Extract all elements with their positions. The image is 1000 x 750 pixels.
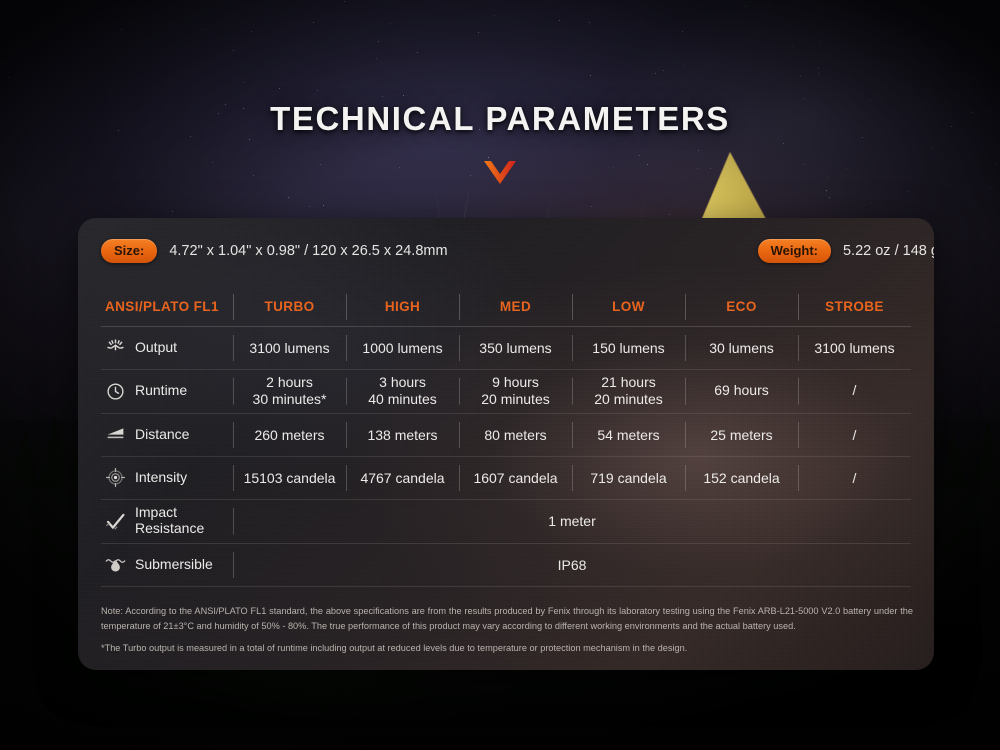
column-header-eco: ECO [685, 288, 798, 326]
column-header-strobe: STROBE [798, 288, 911, 326]
value-cell: / [798, 413, 911, 456]
value-cell: 21 hours20 minutes [572, 369, 685, 413]
chevron-down-icon [483, 160, 517, 186]
row-label-text: ImpactResistance [135, 505, 204, 536]
impact-check-icon [105, 511, 126, 532]
row-label-cell: ImpactResistance [101, 499, 233, 543]
value-line2: 20 minutes [594, 391, 662, 407]
value-cell: 150 lumens [572, 326, 685, 369]
row-label-text: Distance [135, 427, 189, 443]
value-cell: 152 candela [685, 456, 798, 499]
table-row: SubmersibleIP68 [101, 543, 911, 586]
row-label-cell: Output [101, 326, 233, 369]
row-label-line2: Resistance [135, 520, 204, 536]
row-label-text: Intensity [135, 470, 187, 486]
table-row: Output3100 lumens1000 lumens350 lumens15… [101, 326, 911, 369]
table-header-row: ANSI/PLATO FL1 TURBO HIGH MED LOW ECO ST… [101, 288, 911, 326]
value-cell: 25 meters [685, 413, 798, 456]
spec-summary-row: Size: 4.72" x 1.04" x 0.98" / 120 x 26.5… [78, 218, 934, 284]
row-label-cell: Runtime [101, 369, 233, 413]
value-cell: 3100 lumens [233, 326, 346, 369]
column-header-standard: ANSI/PLATO FL1 [101, 288, 233, 326]
value-cell: 2 hours30 minutes* [233, 369, 346, 413]
value-cell: 69 hours [685, 369, 798, 413]
value-line1: 3 hours [379, 374, 426, 390]
table-row: ImpactResistance1 meter [101, 499, 911, 543]
table-row: Distance260 meters138 meters80 meters54 … [101, 413, 911, 456]
value-line1: 9 hours [492, 374, 539, 390]
water-drop-icon [105, 554, 126, 575]
row-label-text: Runtime [135, 383, 187, 399]
value-cell: 9 hours20 minutes [459, 369, 572, 413]
table-body: Output3100 lumens1000 lumens350 lumens15… [101, 326, 911, 586]
footnote-turbo-asterisk: *The Turbo output is measured in a total… [101, 641, 913, 656]
value-cell: 30 lumens [685, 326, 798, 369]
row-label-text: Output [135, 340, 177, 356]
value-cell: 719 candela [572, 456, 685, 499]
value-cell: 4767 candela [346, 456, 459, 499]
weight-spec: Weight: 5.22 oz / 148 g (including batte… [758, 239, 934, 263]
value-cell: 54 meters [572, 413, 685, 456]
value-cell: 260 meters [233, 413, 346, 456]
value-line1: 21 hours [601, 374, 655, 390]
row-label-cell: Intensity [101, 456, 233, 499]
merged-value-cell: 1 meter [233, 499, 911, 543]
technical-parameters-table: ANSI/PLATO FL1 TURBO HIGH MED LOW ECO ST… [101, 288, 911, 587]
footnote-ansi-standard: Note: According to the ANSI/PLATO FL1 st… [101, 604, 913, 633]
row-label-cell: Distance [101, 413, 233, 456]
target-intensity-icon [105, 467, 126, 488]
value-line2: 30 minutes* [253, 391, 327, 407]
column-header-high: HIGH [346, 288, 459, 326]
column-header-low: LOW [572, 288, 685, 326]
table-row: Intensity15103 candela4767 candela1607 c… [101, 456, 911, 499]
value-cell: 350 lumens [459, 326, 572, 369]
light-burst-icon [105, 337, 126, 358]
footnotes: Note: According to the ANSI/PLATO FL1 st… [101, 604, 913, 656]
value-line2: 40 minutes [368, 391, 436, 407]
merged-value-cell: IP68 [233, 543, 911, 586]
value-cell: 1000 lumens [346, 326, 459, 369]
value-cell: 80 meters [459, 413, 572, 456]
value-cell: 1607 candela [459, 456, 572, 499]
row-label-line1: Impact [135, 504, 177, 520]
size-spec: Size: 4.72" x 1.04" x 0.98" / 120 x 26.5… [101, 239, 448, 263]
value-line2: 20 minutes [481, 391, 549, 407]
beam-distance-icon [105, 424, 126, 445]
clock-icon [105, 381, 126, 402]
table-header: ANSI/PLATO FL1 TURBO HIGH MED LOW ECO ST… [101, 288, 911, 326]
weight-value: 5.22 oz / 148 g (including battery). [843, 243, 934, 259]
size-value: 4.72" x 1.04" x 0.98" / 120 x 26.5 x 24.… [169, 243, 447, 259]
value-line1: 69 hours [714, 382, 768, 398]
value-cell: 3100 lumens [798, 326, 911, 369]
value-cell: / [798, 456, 911, 499]
page-root: TECHNICAL PARAMETERS Size: 4.72" x 1.04"… [0, 0, 1000, 750]
spec-panel: Size: 4.72" x 1.04" x 0.98" / 120 x 26.5… [78, 218, 934, 670]
page-title: TECHNICAL PARAMETERS [0, 100, 1000, 138]
weight-label-pill: Weight: [758, 239, 831, 263]
title-block: TECHNICAL PARAMETERS [0, 100, 1000, 138]
value-line1: / [853, 382, 857, 398]
value-line1: 2 hours [266, 374, 313, 390]
row-label-cell: Submersible [101, 543, 233, 586]
row-label-text: Submersible [135, 557, 213, 573]
value-cell: / [798, 369, 911, 413]
size-label-pill: Size: [101, 239, 157, 263]
value-cell: 138 meters [346, 413, 459, 456]
value-cell: 15103 candela [233, 456, 346, 499]
value-cell: 3 hours40 minutes [346, 369, 459, 413]
column-header-turbo: TURBO [233, 288, 346, 326]
table-row: Runtime2 hours30 minutes*3 hours40 minut… [101, 369, 911, 413]
column-header-med: MED [459, 288, 572, 326]
